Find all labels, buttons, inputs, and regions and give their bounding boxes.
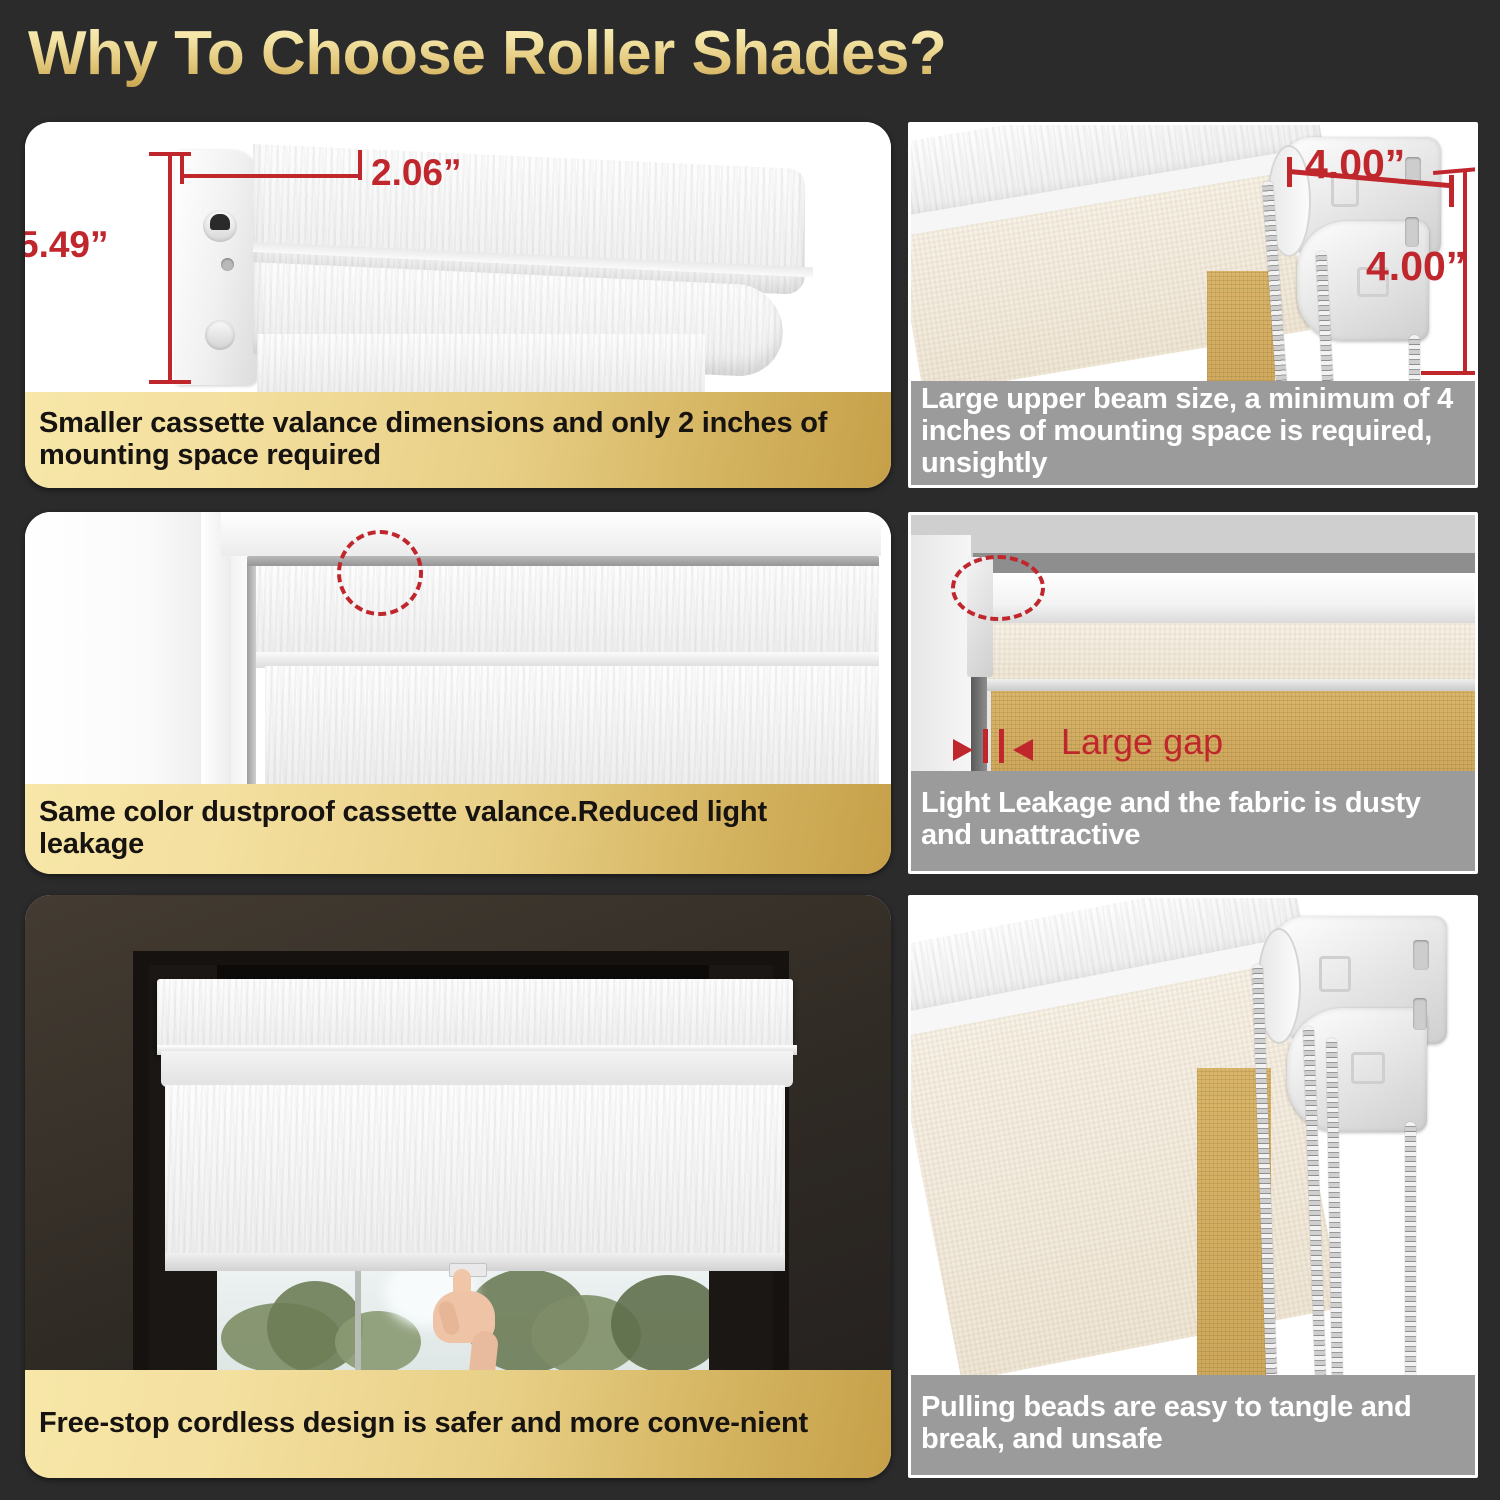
panel-5-caption-text: Free-stop cordless design is safer and m… [39,1407,808,1439]
clutch-housing [203,210,237,242]
panel-2-photo: 4.00” 4.00” [911,125,1475,387]
panel-light-leakage: Large gap Light Leakage and the fabric i… [908,512,1478,874]
dim-549-tick-bottom [149,380,191,384]
dim-400-v-label: 4.00” [1366,243,1466,290]
panel-2-caption-bar: Large upper beam size, a minimum of 4 in… [911,381,1475,485]
dim-206-tick-right [358,150,362,180]
dim-549-tick-top [149,152,191,156]
gap-bar-1 [983,729,988,763]
shade-fabric [165,1085,785,1263]
panel-1-photo: 2.06” 5.49” [25,122,891,394]
panel-3-caption-text: Same color dustproof cassette valance.Re… [39,796,877,861]
gap-highlight-circle [951,555,1045,621]
fabric-cream-band [989,623,1475,681]
panel-5-photo [25,895,891,1370]
panel-dustproof-cassette: smaller gap Same color dustproof cassett… [25,512,891,874]
bead-chain-3 [1409,335,1420,387]
cassette-end-cap [175,150,257,385]
gap-callout-label: Large gap [1061,721,1223,763]
panel-large-upper-beam: 4.00” 4.00” Large upper beam size, a min… [908,122,1478,488]
dim-400-h-tick-right [1449,175,1454,207]
dim-206-label: 2.06” [371,152,462,194]
dim-549-label: 5.49” [25,224,109,266]
shade-fabric [257,334,705,394]
panel-6-photo [911,898,1475,1380]
dim-206-line [182,174,362,178]
panel-4-caption-bar: Light Leakage and the fabric is dusty an… [911,771,1475,871]
page-title: Why To Choose Roller Shades? [28,18,946,89]
gap-arrow-right [1013,739,1033,761]
dim-549-line [168,154,172,384]
wall [25,512,207,784]
window-frame-top [221,512,881,556]
panel-5-caption-bar: Free-stop cordless design is safer and m… [25,1370,891,1478]
cassette-valance [157,979,793,1055]
panel-4-caption-text: Light Leakage and the fabric is dusty an… [921,788,1465,852]
gap-arrow-left [953,739,973,761]
dim-400-h-tick-left [1287,157,1292,187]
panel-smaller-cassette: 2.06” 5.49” Smaller cassette valance dim… [25,122,891,488]
panel-1-caption-bar: Smaller cassette valance dimensions and … [25,392,891,488]
panel-4-photo: Large gap [911,515,1475,777]
roller-tube [977,573,1475,625]
gap-highlight-circle [337,530,423,616]
bead-chain-4 [1405,1122,1416,1380]
valance-lip [161,1051,793,1087]
panel-6-caption-text: Pulling beads are easy to tangle and bre… [921,1392,1465,1456]
panel-free-stop-cordless: Free-stop cordless design is safer and m… [25,895,891,1478]
bracket-slot-top [1413,940,1429,970]
dim-400-h-label: 4.00” [1305,141,1405,188]
shade-fabric-tan [1207,271,1275,387]
side-gap [247,566,256,784]
panel-3-photo: smaller gap [25,512,891,784]
bracket-slot-mid [1413,998,1427,1030]
dim-206-tick-left [180,156,184,184]
dim-400-v-tick-bottom [1421,371,1475,375]
panel-pulling-beads: Pulling beads are easy to tangle and bre… [908,895,1478,1478]
panel-1-caption-text: Smaller cassette valance dimensions and … [39,407,877,472]
bottom-pin [205,320,235,350]
shade-fabric-lower [265,666,879,784]
panel-2-caption-text: Large upper beam size, a minimum of 4 in… [921,384,1465,480]
panel-3-caption-bar: Same color dustproof cassette valance.Re… [25,784,891,874]
gap-bar-2 [999,729,1004,763]
panel-6-caption-bar: Pulling beads are easy to tangle and bre… [911,1375,1475,1475]
